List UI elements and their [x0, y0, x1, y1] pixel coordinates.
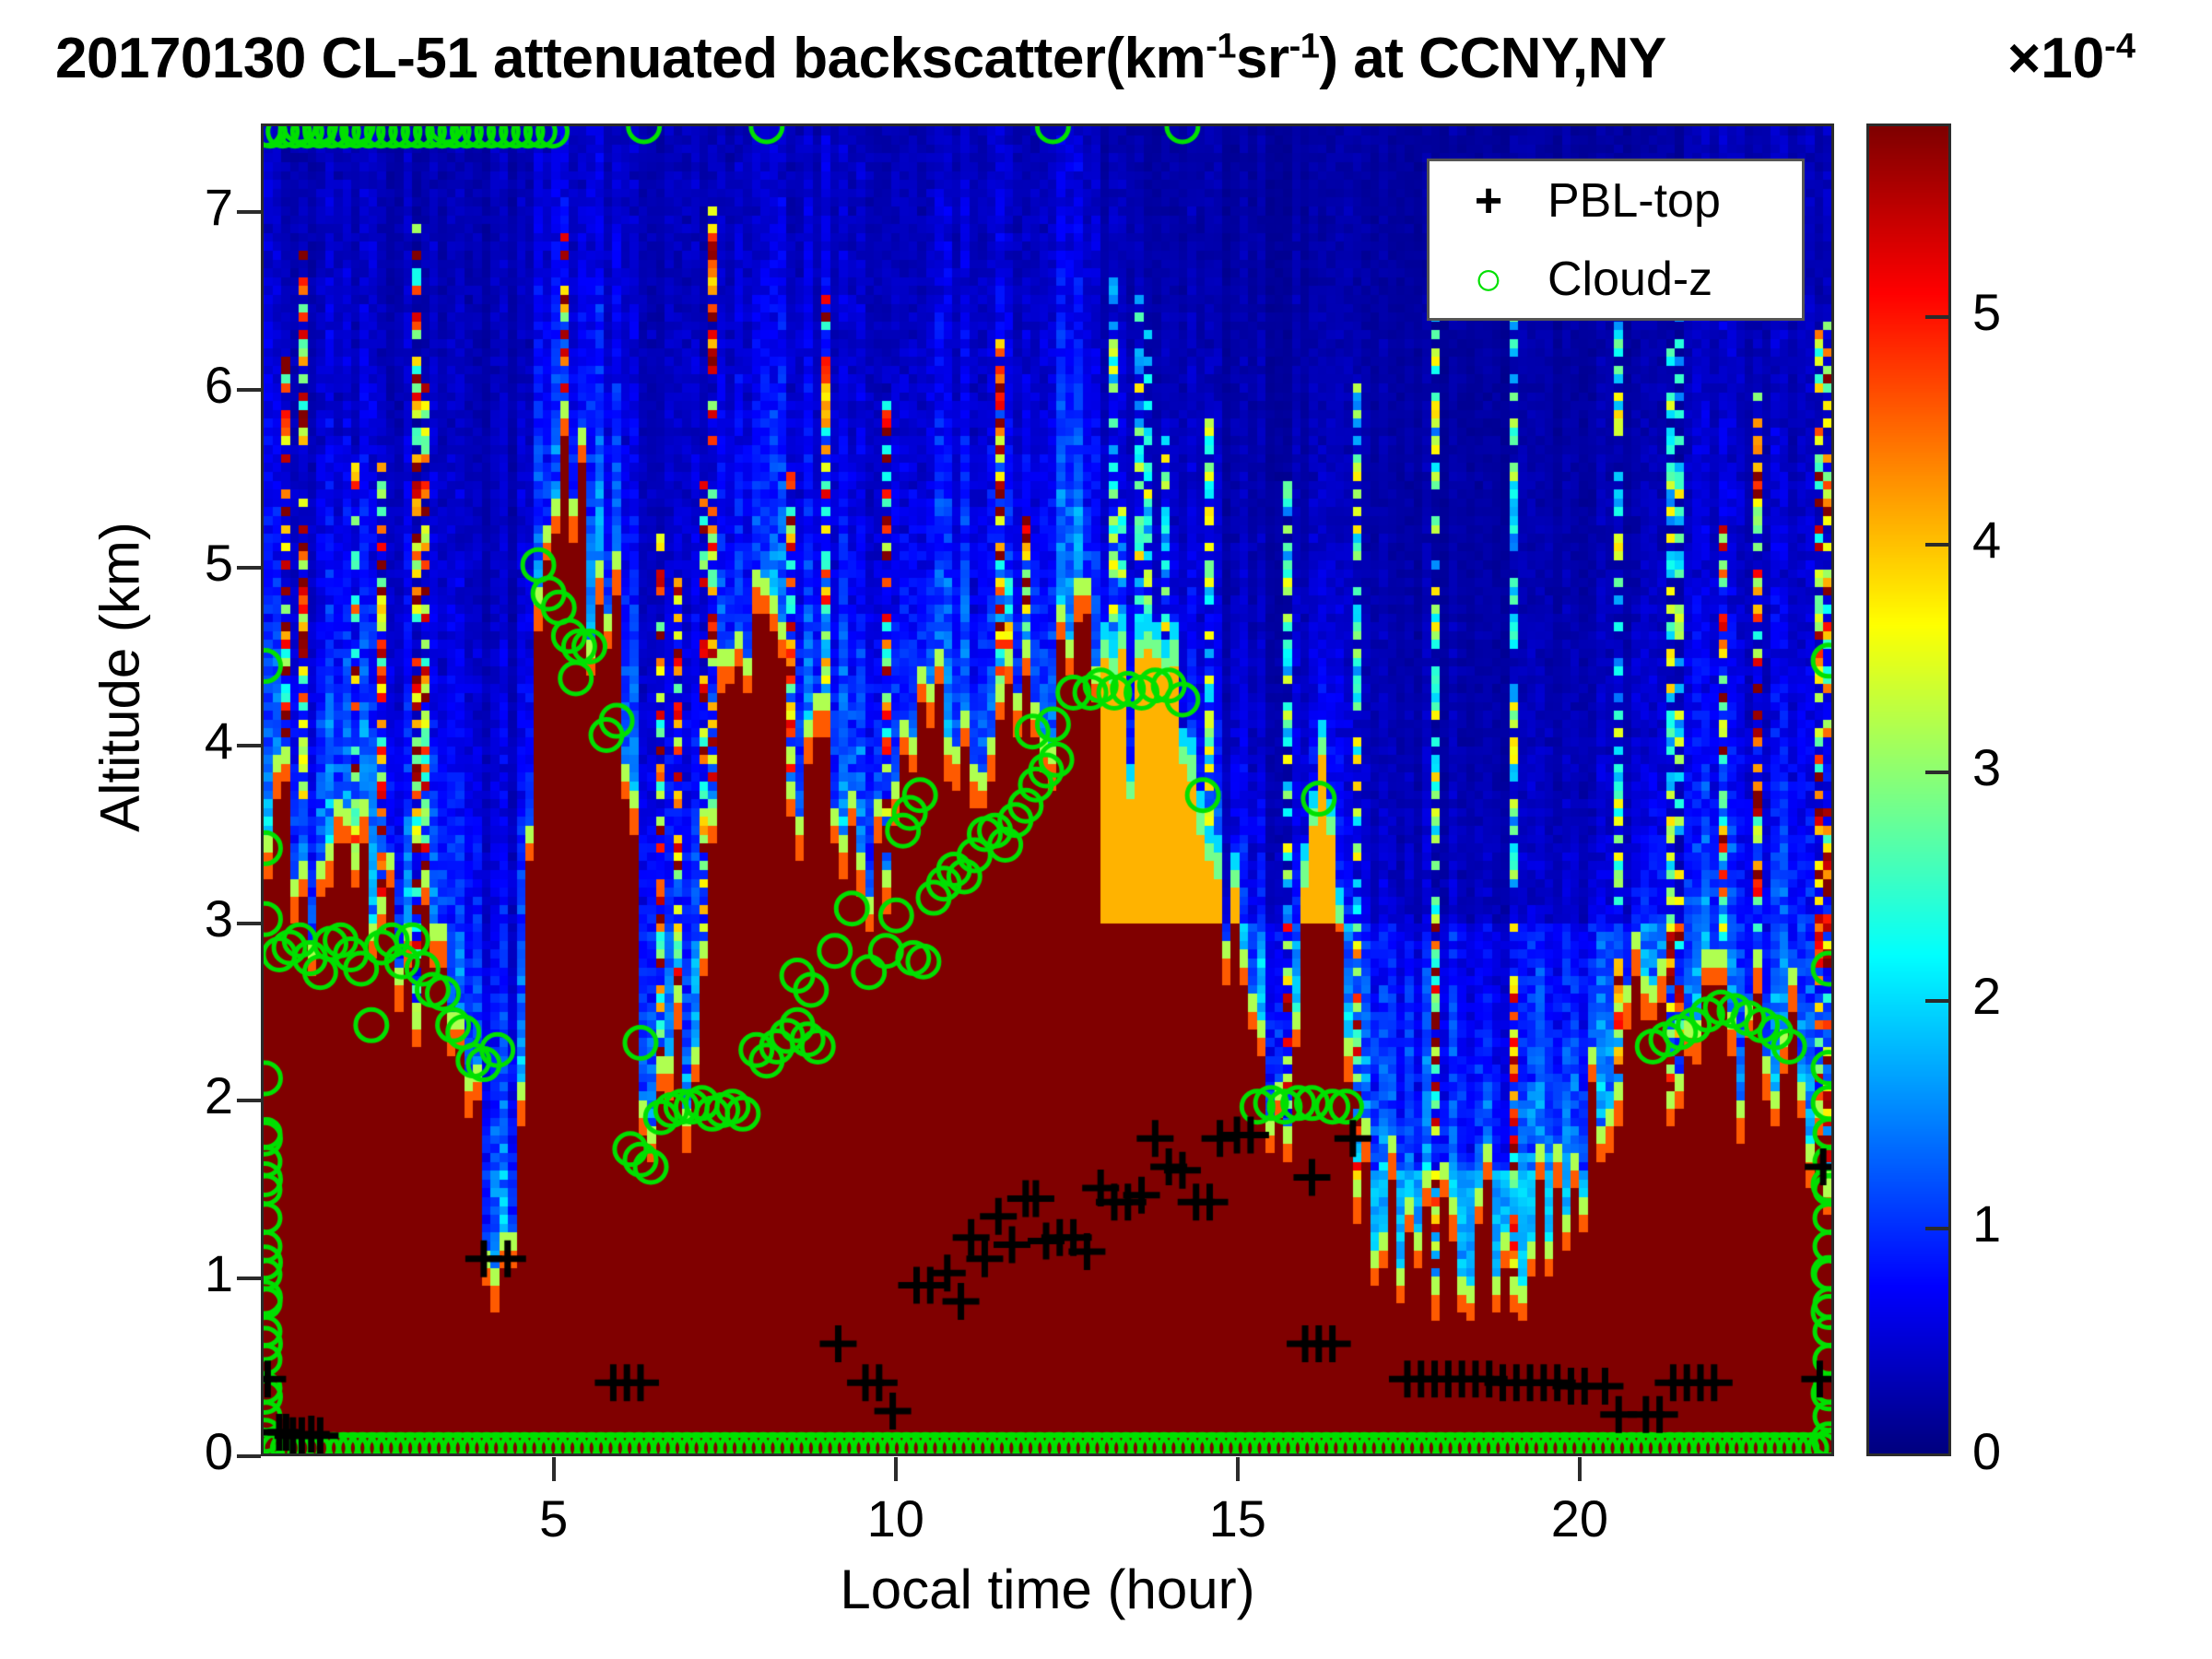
colorbar-tick-label: 0 — [1972, 1421, 2001, 1481]
colorbar-tick-label: 4 — [1972, 510, 2001, 570]
y-axis-tick — [237, 744, 261, 747]
circle-marker-icon: ○ — [1430, 255, 1547, 303]
y-axis-tick — [237, 1277, 261, 1280]
plus-marker-icon: + — [1430, 177, 1547, 225]
colorbar-gradient — [1869, 126, 1948, 1453]
colorbar-tick — [1925, 999, 1949, 1003]
heatmap-plot-area[interactable] — [261, 124, 1834, 1456]
title-main: 20170130 CL-51 attenuated backscatter(km — [55, 27, 1206, 90]
legend-box[interactable]: + PBL-top ○ Cloud-z — [1427, 159, 1805, 321]
y-axis-tick-label: 2 — [205, 1065, 233, 1125]
colorbar[interactable] — [1866, 124, 1951, 1456]
colorbar-tick-label: 1 — [1972, 1194, 2001, 1253]
figure-title: 20170130 CL-51 attenuated backscatter(km… — [55, 26, 1666, 91]
title-exponent-2: -1 — [1289, 27, 1320, 65]
colorbar-tick-label: 3 — [1972, 737, 2001, 797]
colorbar-tick-label: 5 — [1972, 282, 2001, 342]
title-tail: ) at CCNY,NY — [1319, 27, 1665, 90]
y-axis-tick — [237, 388, 261, 392]
colorbar-exponent-label: ×10-4 — [2007, 26, 2136, 91]
x-axis-tick-label: 20 — [1506, 1488, 1653, 1548]
y-axis-tick-label: 4 — [205, 711, 233, 771]
x-axis-tick — [894, 1457, 898, 1481]
legend-item-pbl-top[interactable]: + PBL-top — [1430, 161, 1802, 240]
y-axis-tick-label: 7 — [205, 177, 233, 237]
y-axis-tick-label: 0 — [205, 1421, 233, 1481]
x-axis-label: Local time (hour) — [261, 1558, 1834, 1621]
x-axis-tick-label: 5 — [480, 1488, 628, 1548]
legend-item-cloud-z[interactable]: ○ Cloud-z — [1430, 240, 1802, 318]
colorbar-exponent-base: ×10 — [2007, 27, 2104, 90]
legend-label-pbl-top: PBL-top — [1547, 173, 1721, 229]
y-axis-label: Altitude (km) — [88, 392, 152, 963]
title-exponent-1: -1 — [1206, 27, 1236, 65]
y-axis-tick-label: 1 — [205, 1243, 233, 1303]
y-axis-tick — [237, 922, 261, 925]
y-axis-tick — [237, 566, 261, 570]
figure-canvas: 20170130 CL-51 attenuated backscatter(km… — [0, 0, 2212, 1659]
x-axis-tick-label: 15 — [1164, 1488, 1312, 1548]
y-axis-tick-label: 6 — [205, 355, 233, 415]
marker-overlay — [264, 126, 1831, 1453]
colorbar-tick — [1925, 771, 1949, 774]
title-middle: sr — [1236, 27, 1289, 90]
colorbar-tick — [1925, 315, 1949, 319]
colorbar-tick — [1925, 543, 1949, 547]
x-axis-tick — [1236, 1457, 1240, 1481]
y-axis-tick-label: 3 — [205, 888, 233, 948]
colorbar-tick — [1925, 1227, 1949, 1230]
legend-label-cloud-z: Cloud-z — [1547, 252, 1712, 307]
colorbar-exponent-sup: -4 — [2104, 27, 2136, 65]
y-axis-tick — [237, 210, 261, 214]
y-axis-tick — [237, 1454, 261, 1458]
colorbar-tick-label: 2 — [1972, 966, 2001, 1026]
x-axis-tick — [552, 1457, 556, 1481]
x-axis-tick — [1578, 1457, 1582, 1481]
x-axis-tick-label: 10 — [822, 1488, 970, 1548]
y-axis-tick-label: 5 — [205, 533, 233, 593]
y-axis-tick — [237, 1099, 261, 1102]
